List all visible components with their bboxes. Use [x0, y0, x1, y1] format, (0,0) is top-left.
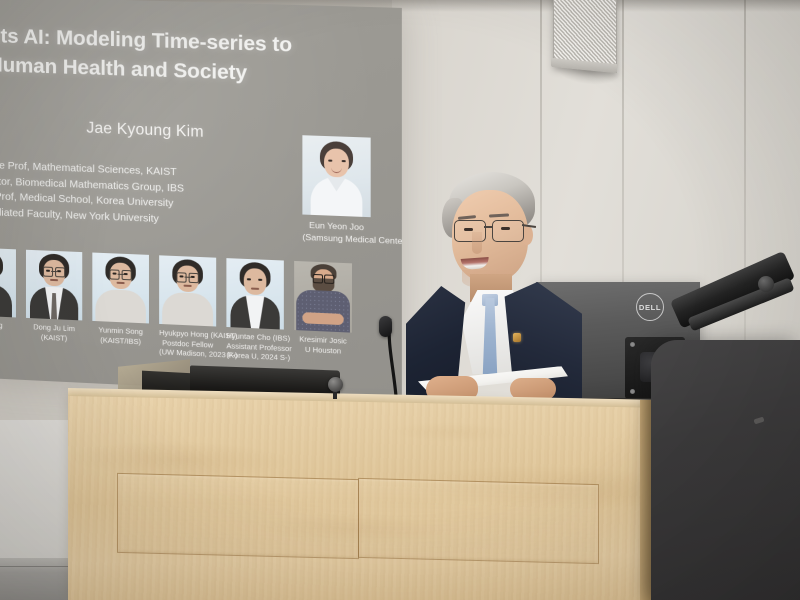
foreground-dark-panel	[651, 340, 800, 600]
presenter-affiliations: ssociate Prof, Mathematical Sciences, KA…	[0, 156, 218, 230]
team-member-2: Yunmin Song (KAIST/IBS)	[92, 253, 149, 347]
slide-title: s Meets AI: Modeling Time-series to orm …	[0, 21, 391, 93]
featured-person-block: Eun Yeon Joo (Samsung Medical Center)	[302, 135, 370, 246]
lecture-photo-scene: s Meets AI: Modeling Time-series to orm …	[0, 0, 800, 600]
baseboard-trim-line	[0, 566, 72, 567]
dell-logo-icon: DELL	[636, 293, 664, 321]
team-member-affiliation: (UW Madison, 2023 F-)	[159, 347, 216, 359]
team-member-caption: g Hwang S	[0, 319, 16, 341]
team-member-0: g Hwang S	[0, 247, 16, 341]
podium-panel-left	[117, 473, 359, 559]
team-member-photo	[92, 253, 149, 324]
team-member-affiliation: (KAIST/IBS)	[92, 335, 149, 347]
featured-person-affiliation: (Samsung Medical Center)	[302, 231, 370, 246]
team-headshot-row: g Hwang S Dong Ju Lim (KAIST)	[0, 247, 352, 366]
team-member-photo	[226, 258, 283, 329]
speaker-person	[400, 170, 590, 400]
team-member-caption: Hyukpyo Hong (KAIST) Postdoc Fellow (UW …	[159, 328, 216, 360]
team-member-caption: Kresimir Josic U Houston	[294, 334, 352, 356]
desk-microphone-head	[328, 377, 343, 392]
presenter-name: Jae Kyoung Kim	[0, 116, 309, 146]
baseboard	[0, 558, 72, 600]
eye-left	[328, 160, 332, 162]
team-member-photo	[0, 247, 16, 317]
team-member-photo	[159, 255, 216, 326]
team-member-3: Hyukpyo Hong (KAIST) Postdoc Fellow (UW …	[159, 255, 216, 359]
featured-person-caption: Eun Yeon Joo (Samsung Medical Center)	[302, 220, 370, 246]
team-member-caption: Yunmin Song (KAIST/IBS)	[92, 325, 149, 347]
team-member-1: Dong Ju Lim (KAIST)	[26, 250, 82, 344]
featured-person-photo	[302, 135, 370, 217]
monitor-arm-joint	[758, 276, 774, 292]
team-member-photo	[294, 261, 352, 333]
microphone-capsule	[379, 316, 392, 337]
eye-right	[342, 160, 346, 162]
team-member-caption: Hyuntae Cho (IBS) Assistant Professor (K…	[226, 331, 283, 363]
team-member-caption: Dong Ju Lim (KAIST)	[26, 322, 82, 344]
face-shape	[324, 148, 349, 177]
projected-slide: s Meets AI: Modeling Time-series to orm …	[0, 0, 402, 398]
dell-wordmark: DELL	[639, 303, 661, 312]
team-member-affiliation: (Korea U, 2024 S-)	[226, 351, 283, 363]
team-member-name: g Hwang	[0, 319, 16, 331]
lapel-pin-icon	[513, 333, 521, 342]
podium-panel-right	[358, 478, 599, 564]
eyeglasses-icon	[450, 220, 530, 242]
nose	[472, 232, 482, 254]
team-member-5: Kresimir Josic U Houston	[294, 261, 352, 356]
team-member-photo	[26, 250, 82, 321]
team-member-4: Hyuntae Cho (IBS) Assistant Professor (K…	[226, 258, 283, 363]
